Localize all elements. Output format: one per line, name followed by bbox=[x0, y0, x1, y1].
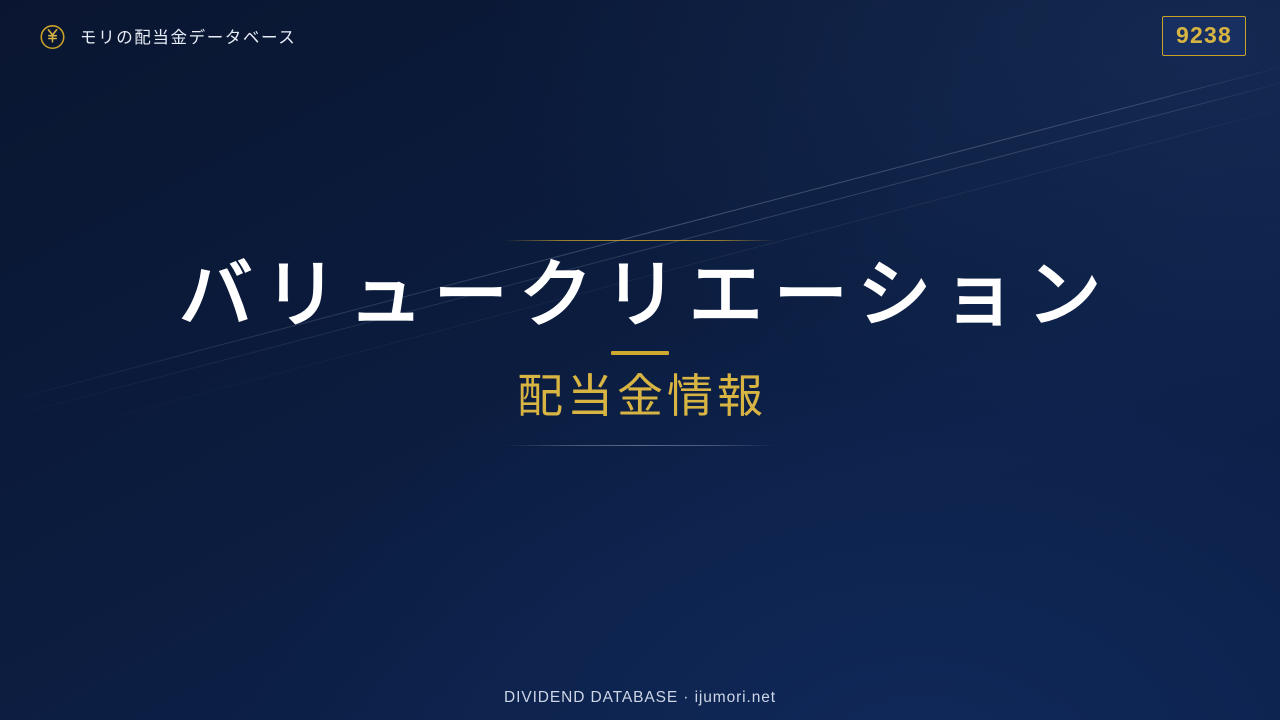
page-footer: DIVIDEND DATABASE · ijumori.net bbox=[0, 689, 1280, 707]
divider-bottom bbox=[504, 445, 776, 446]
divider-top bbox=[504, 240, 776, 241]
footer-credit: DIVIDEND DATABASE · ijumori.net bbox=[504, 689, 776, 706]
brand[interactable]: モリの配当金データベース bbox=[38, 22, 296, 51]
divider-bottom-wrapper bbox=[504, 445, 776, 446]
gold-accent-bar bbox=[611, 351, 669, 355]
brand-name: モリの配当金データベース bbox=[80, 24, 296, 48]
yen-circle-icon bbox=[38, 22, 67, 51]
slide-canvas: モリの配当金データベース 9238 バリュークリエーション 配当金情報 DIVI… bbox=[0, 0, 1280, 720]
company-name-title: バリュークリエーション bbox=[168, 254, 1113, 337]
page-header: モリの配当金データベース 9238 bbox=[0, 0, 1280, 72]
hero-block: バリュークリエーション 配当金情報 bbox=[0, 240, 1280, 446]
page-subtitle: 配当金情報 bbox=[513, 369, 767, 424]
ticker-code-badge[interactable]: 9238 bbox=[1162, 16, 1246, 56]
